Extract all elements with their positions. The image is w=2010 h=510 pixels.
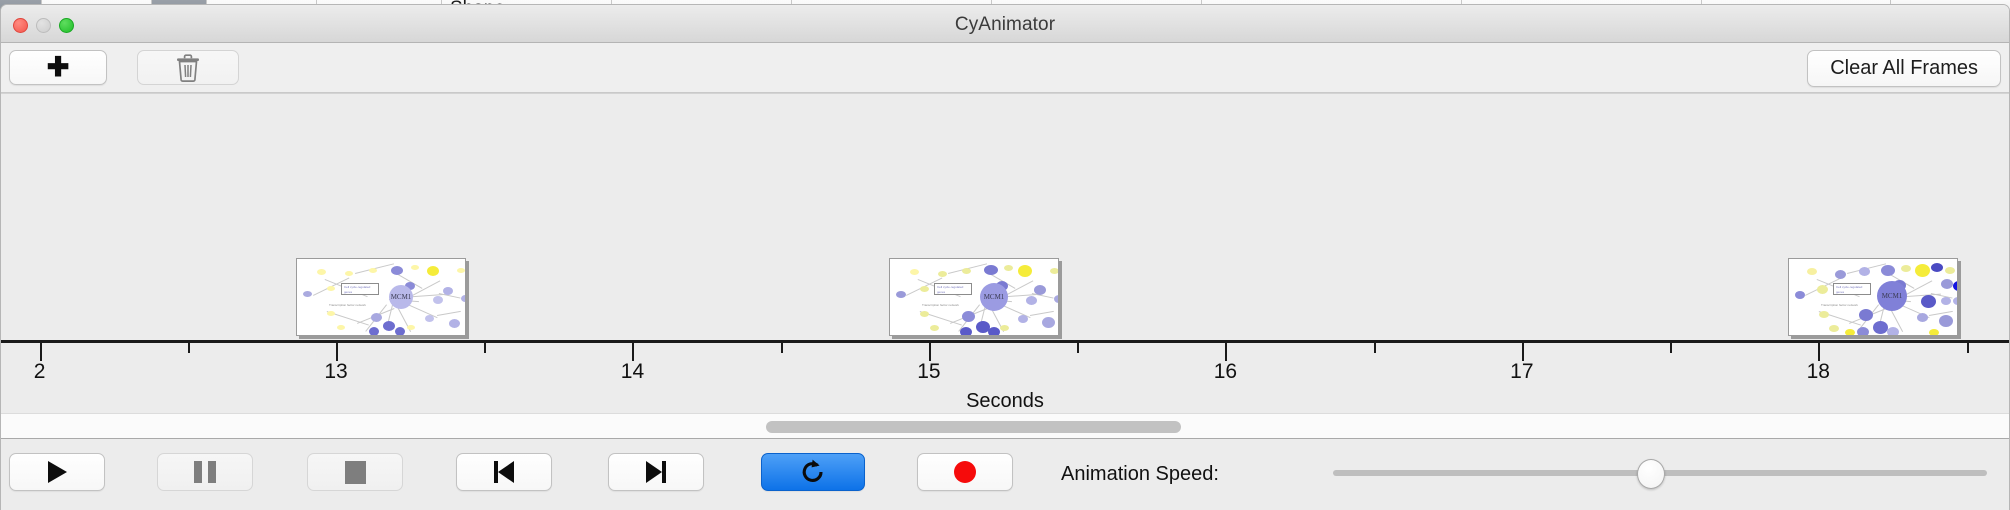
window-titlebar: CyAnimator bbox=[1, 5, 2009, 43]
loop-icon bbox=[798, 457, 828, 487]
graph-annotation: Transcription factor network bbox=[922, 303, 959, 307]
axis-tick-label: 13 bbox=[324, 360, 347, 384]
axis-tick-minor bbox=[1967, 343, 1969, 353]
axis-tick-label: 17 bbox=[1510, 360, 1533, 384]
trash-icon bbox=[175, 54, 201, 82]
axis-tick-major bbox=[336, 343, 338, 361]
clear-all-frames-button[interactable]: Clear All Frames bbox=[1807, 50, 2001, 87]
timeline-scrollbar[interactable] bbox=[1, 413, 2009, 439]
add-frame-button[interactable]: ✚ bbox=[9, 50, 107, 85]
hub-node-label: MCM1 bbox=[389, 285, 413, 309]
pause-button[interactable] bbox=[157, 453, 253, 491]
plus-icon: ✚ bbox=[47, 54, 70, 81]
timeline-axis bbox=[1, 340, 2009, 343]
record-button[interactable] bbox=[917, 453, 1013, 491]
toolbar: ✚ Clear All Frames bbox=[1, 43, 2009, 93]
axis-tick-minor bbox=[781, 343, 783, 353]
clear-all-frames-label: Clear All Frames bbox=[1830, 57, 1978, 80]
graph-callout: Cell cycle-regulated genes bbox=[934, 283, 972, 295]
frame-thumbnail-2[interactable]: MCM1 Cell cycle-regulated genes Transcri… bbox=[889, 258, 1059, 336]
axis-tick-minor bbox=[1077, 343, 1079, 353]
window-title: CyAnimator bbox=[1, 14, 2009, 36]
skip-to-start-button[interactable] bbox=[456, 453, 552, 491]
scrollbar-thumb[interactable] bbox=[766, 421, 1181, 433]
animation-speed-slider-thumb[interactable] bbox=[1637, 459, 1665, 489]
axis-tick-label: 14 bbox=[621, 360, 644, 384]
network-graph-preview: MCM1 Cell cycle-regulated genes Transcri… bbox=[1789, 259, 1957, 335]
axis-tick-major bbox=[929, 343, 931, 361]
stop-button[interactable] bbox=[307, 453, 403, 491]
timeline-panel[interactable]: MCM1 Cell cycle-regulated genes Transcri… bbox=[1, 93, 2009, 413]
axis-tick-minor bbox=[1374, 343, 1376, 353]
axis-tick-label: 15 bbox=[917, 360, 940, 384]
hub-node-label: MCM1 bbox=[1877, 281, 1907, 311]
delete-frame-button[interactable] bbox=[137, 50, 239, 85]
axis-tick-minor bbox=[188, 343, 190, 353]
axis-tick-minor bbox=[1670, 343, 1672, 353]
axis-tick-major bbox=[632, 343, 634, 361]
graph-annotation: Transcription factor network bbox=[1821, 303, 1858, 307]
animation-speed-label: Animation Speed: bbox=[1061, 463, 1219, 486]
pause-icon bbox=[194, 461, 216, 483]
frame-thumbnail-1[interactable]: MCM1 Cell cycle-regulated genes Transcri… bbox=[296, 258, 466, 336]
axis-tick-label: 16 bbox=[1214, 360, 1237, 384]
network-graph-preview: MCM1 Cell cycle-regulated genes Transcri… bbox=[890, 259, 1058, 335]
skip-start-icon bbox=[494, 461, 514, 483]
axis-tick-minor bbox=[484, 343, 486, 353]
axis-tick-label: 2 bbox=[34, 360, 46, 384]
skip-to-end-button[interactable] bbox=[608, 453, 704, 491]
playback-control-bar: Animation Speed: bbox=[1, 439, 2009, 509]
graph-annotation: Transcription factor network bbox=[329, 303, 366, 307]
axis-tick-major bbox=[1522, 343, 1524, 361]
graph-callout: Cell cycle-regulated genes bbox=[1833, 283, 1871, 295]
hub-node-label: MCM1 bbox=[980, 283, 1008, 311]
play-button[interactable] bbox=[9, 453, 105, 491]
cyanimator-window: CyAnimator ✚ Clear All Frames bbox=[0, 4, 2010, 510]
axis-title: Seconds bbox=[1, 390, 2009, 413]
loop-button[interactable] bbox=[761, 453, 865, 491]
network-graph-preview: MCM1 Cell cycle-regulated genes Transcri… bbox=[297, 259, 465, 335]
record-icon bbox=[954, 461, 976, 483]
axis-tick-major bbox=[1225, 343, 1227, 361]
axis-tick-major bbox=[40, 343, 42, 361]
axis-tick-label: 18 bbox=[1807, 360, 1830, 384]
axis-tick-major bbox=[1818, 343, 1820, 361]
stop-icon bbox=[345, 461, 366, 484]
skip-end-icon bbox=[646, 461, 666, 483]
frame-thumbnail-3[interactable]: MCM1 Cell cycle-regulated genes Transcri… bbox=[1788, 258, 1958, 336]
play-icon bbox=[48, 461, 67, 483]
graph-callout: Cell cycle-regulated genes bbox=[341, 283, 379, 295]
